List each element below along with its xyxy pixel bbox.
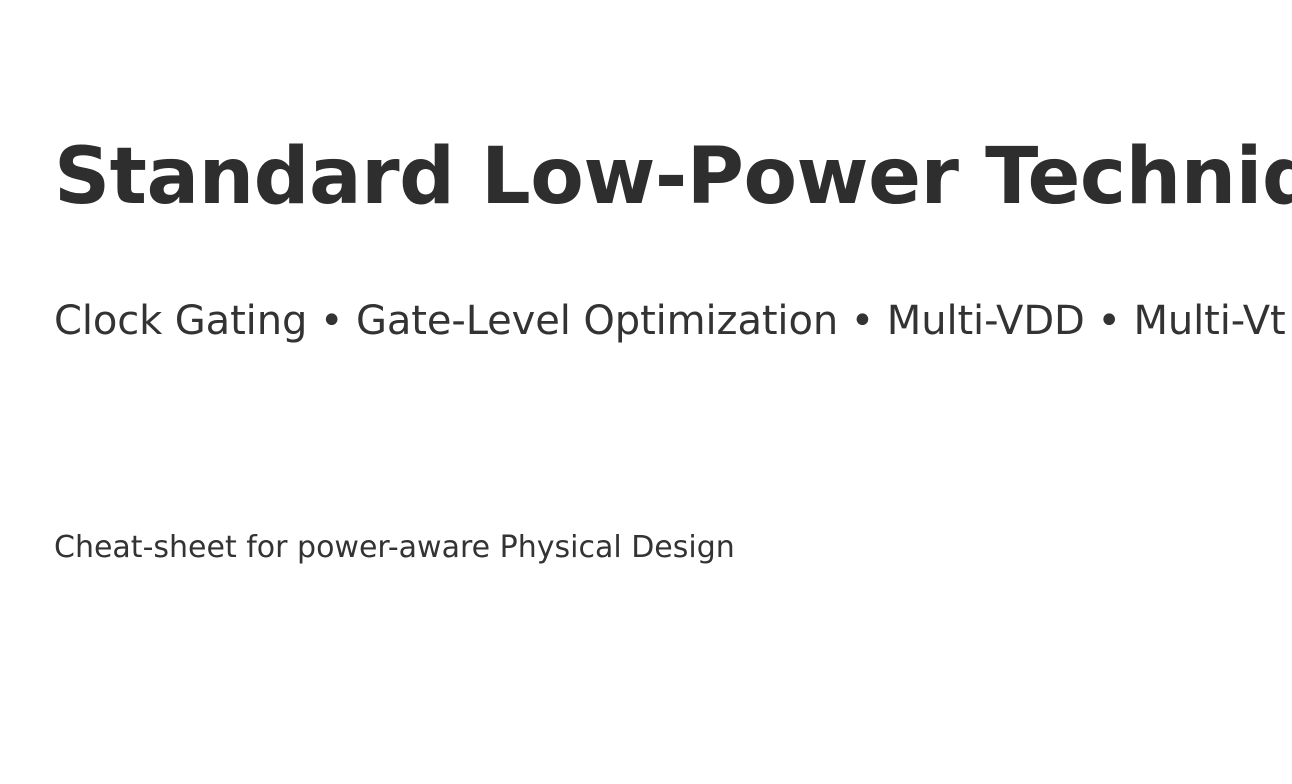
slide-subtitle: Clock Gating • Gate-Level Optimization •…	[54, 297, 1254, 346]
page-title: Standard Low-Power Techniques	[54, 134, 1284, 221]
title-slide: Standard Low-Power Techniques Clock Gati…	[0, 0, 1292, 784]
slide-footnote: Cheat-sheet for power-aware Physical Des…	[54, 529, 1254, 567]
